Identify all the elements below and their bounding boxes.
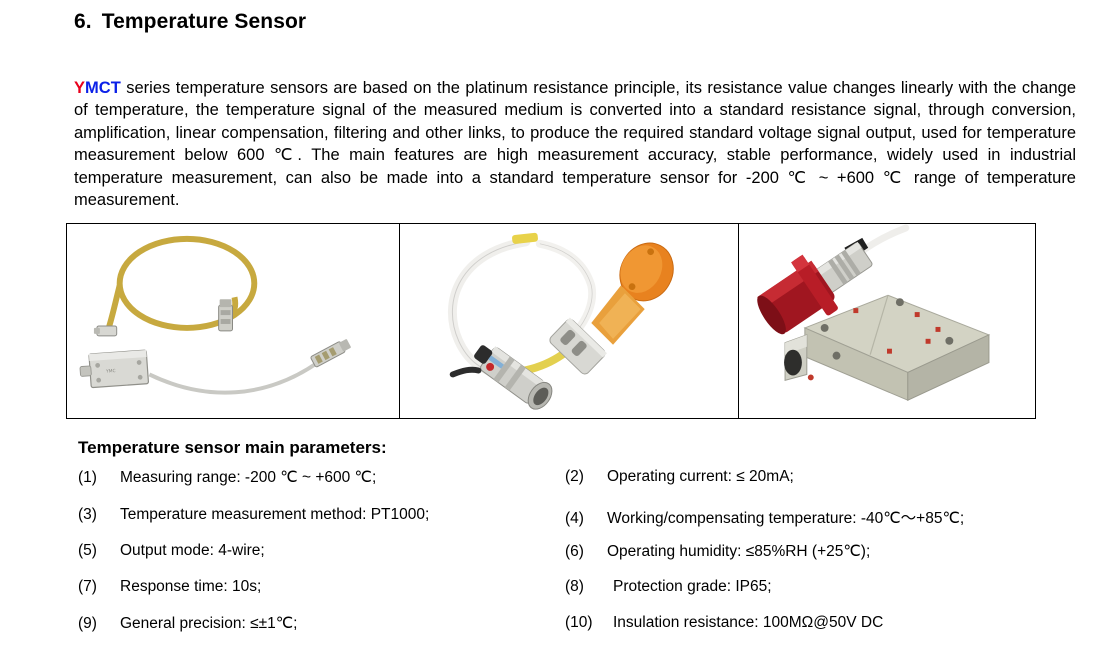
parameter-text: Output mode: 4-wire; — [120, 542, 265, 560]
parameter-index: (8) — [565, 578, 607, 596]
parameter-item-9: (9) General precision: ≤±1℃; — [78, 614, 565, 633]
parameter-index: (1) — [78, 469, 120, 487]
parameter-row: (3) Temperature measurement method: PT10… — [78, 506, 1038, 540]
product-image-table: YMC — [66, 223, 1036, 419]
parameter-item-7: (7) Response time: 10s; — [78, 578, 565, 596]
red-probe-grey-housing-sensor-photo — [739, 224, 1035, 418]
product-image-cell-2 — [400, 224, 739, 418]
parameter-index: (3) — [78, 506, 120, 524]
parameter-text: Operating humidity: ≤85%RH (+25℃); — [607, 542, 870, 561]
parameters-list: (1) Measuring range: -200 ℃ ~ +600 ℃; (2… — [78, 468, 1038, 633]
parameter-index: (2) — [565, 468, 607, 486]
product-image-cell-1: YMC — [67, 224, 400, 418]
brand-letters-mc: MC — [85, 79, 111, 97]
section-number: 6. — [74, 10, 92, 33]
parameter-index: (7) — [78, 578, 120, 596]
brand-letter-t: T — [111, 79, 121, 97]
parameters-heading: Temperature sensor main parameters: — [78, 438, 387, 458]
parameter-item-4: (4) Working/compensating temperature: -4… — [565, 506, 1035, 528]
parameter-index: (4) — [565, 510, 607, 528]
intro-paragraph: YMCT series temperature sensors are base… — [74, 77, 1076, 213]
parameter-index: (10) — [565, 614, 613, 632]
document-page: 6.Temperature Sensor YMCT series tempera… — [0, 0, 1102, 640]
parameter-item-8: (8) Protection grade: IP65; — [565, 578, 1035, 596]
parameter-item-10: (10) Insulation resistance: 100MΩ@50V DC — [565, 614, 1035, 632]
parameter-text: Response time: 10s; — [120, 578, 261, 596]
parameter-item-2: (2) Operating current: ≤ 20mA; — [565, 468, 1035, 486]
parameter-row: (5) Output mode: 4-wire; (6) Operating h… — [78, 542, 1038, 576]
parameter-text: Measuring range: -200 ℃ ~ +600 ℃; — [120, 468, 376, 487]
page-title: 6.Temperature Sensor — [74, 10, 306, 34]
parameter-index: (6) — [565, 543, 607, 561]
parameter-text: Operating current: ≤ 20mA; — [607, 468, 794, 486]
intro-body-text: series temperature sensors are based on … — [74, 79, 1076, 210]
parameter-item-6: (6) Operating humidity: ≤85%RH (+25℃); — [565, 542, 1035, 561]
parameter-row: (9) General precision: ≤±1℃; (10) Insula… — [78, 614, 1038, 648]
product-image-cell-3 — [739, 224, 1035, 418]
parameter-text: Working/compensating temperature: -40℃～+… — [607, 506, 964, 528]
parameter-text: Protection grade: IP65; — [607, 578, 772, 596]
coiled-yellow-cable-sensor-photo: YMC — [67, 224, 399, 418]
parameter-item-3: (3) Temperature measurement method: PT10… — [78, 506, 565, 524]
brand-letter-y: Y — [74, 79, 85, 97]
svg-text:YMC: YMC — [105, 368, 116, 375]
parameter-item-5: (5) Output mode: 4-wire; — [78, 542, 565, 560]
parameter-text: Insulation resistance: 100MΩ@50V DC — [613, 614, 883, 632]
parameter-text: General precision: ≤±1℃; — [120, 614, 297, 633]
parameter-item-1: (1) Measuring range: -200 ℃ ~ +600 ℃; — [78, 468, 565, 487]
section-title-text: Temperature Sensor — [102, 10, 306, 33]
parameter-text: Temperature measurement method: PT1000; — [120, 506, 429, 524]
parameter-row: (7) Response time: 10s; (8) Protection g… — [78, 578, 1038, 612]
parameter-index: (5) — [78, 542, 120, 560]
orange-probe-head-sensor-photo — [400, 224, 738, 418]
parameter-index: (9) — [78, 615, 120, 633]
parameter-row: (1) Measuring range: -200 ℃ ~ +600 ℃; (2… — [78, 468, 1038, 502]
